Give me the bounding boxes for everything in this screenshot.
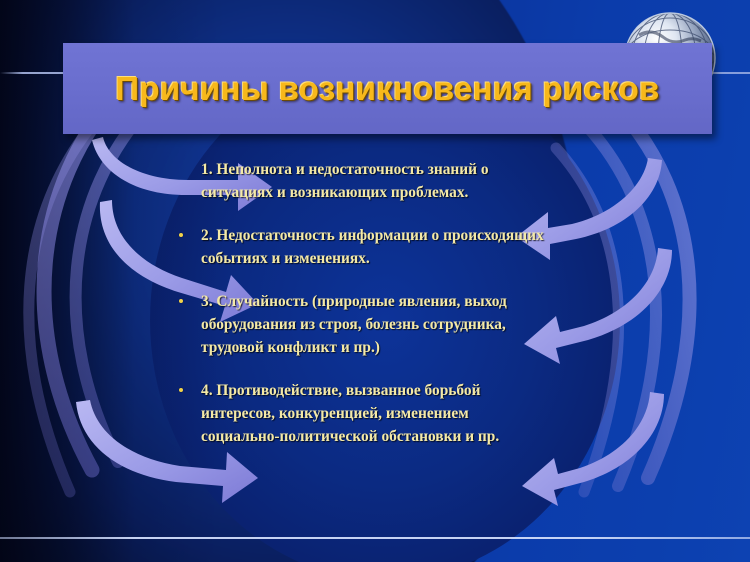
bullet-marker-icon [179,388,183,392]
list-item: 3. Случайность (природные явления, выход… [175,290,545,359]
page-title: Причины возникновения рисков [115,70,659,108]
presentation-slide: Причины возникновения рисков 1. Неполнот… [0,0,750,562]
slide-title-box: Причины возникновения рисков [63,43,712,134]
list-item-text: 1. Неполнота и недостаточность знаний о … [201,158,545,204]
bullet-marker-icon [179,299,183,303]
list-item: 2. Недостаточность информации о происход… [175,224,545,270]
bullet-marker-icon [179,233,183,237]
list-item: 1. Неполнота и недостаточность знаний о … [175,158,545,204]
list-item-text: 2. Недостаточность информации о происход… [201,224,545,270]
list-item: 4. Противодействие, вызванное борьбой ин… [175,379,545,448]
bullet-list: 1. Неполнота и недостаточность знаний о … [175,158,545,468]
list-item-text: 4. Противодействие, вызванное борьбой ин… [201,379,545,448]
list-item-text: 3. Случайность (природные явления, выход… [201,290,545,359]
bottom-divider-line [0,537,750,539]
